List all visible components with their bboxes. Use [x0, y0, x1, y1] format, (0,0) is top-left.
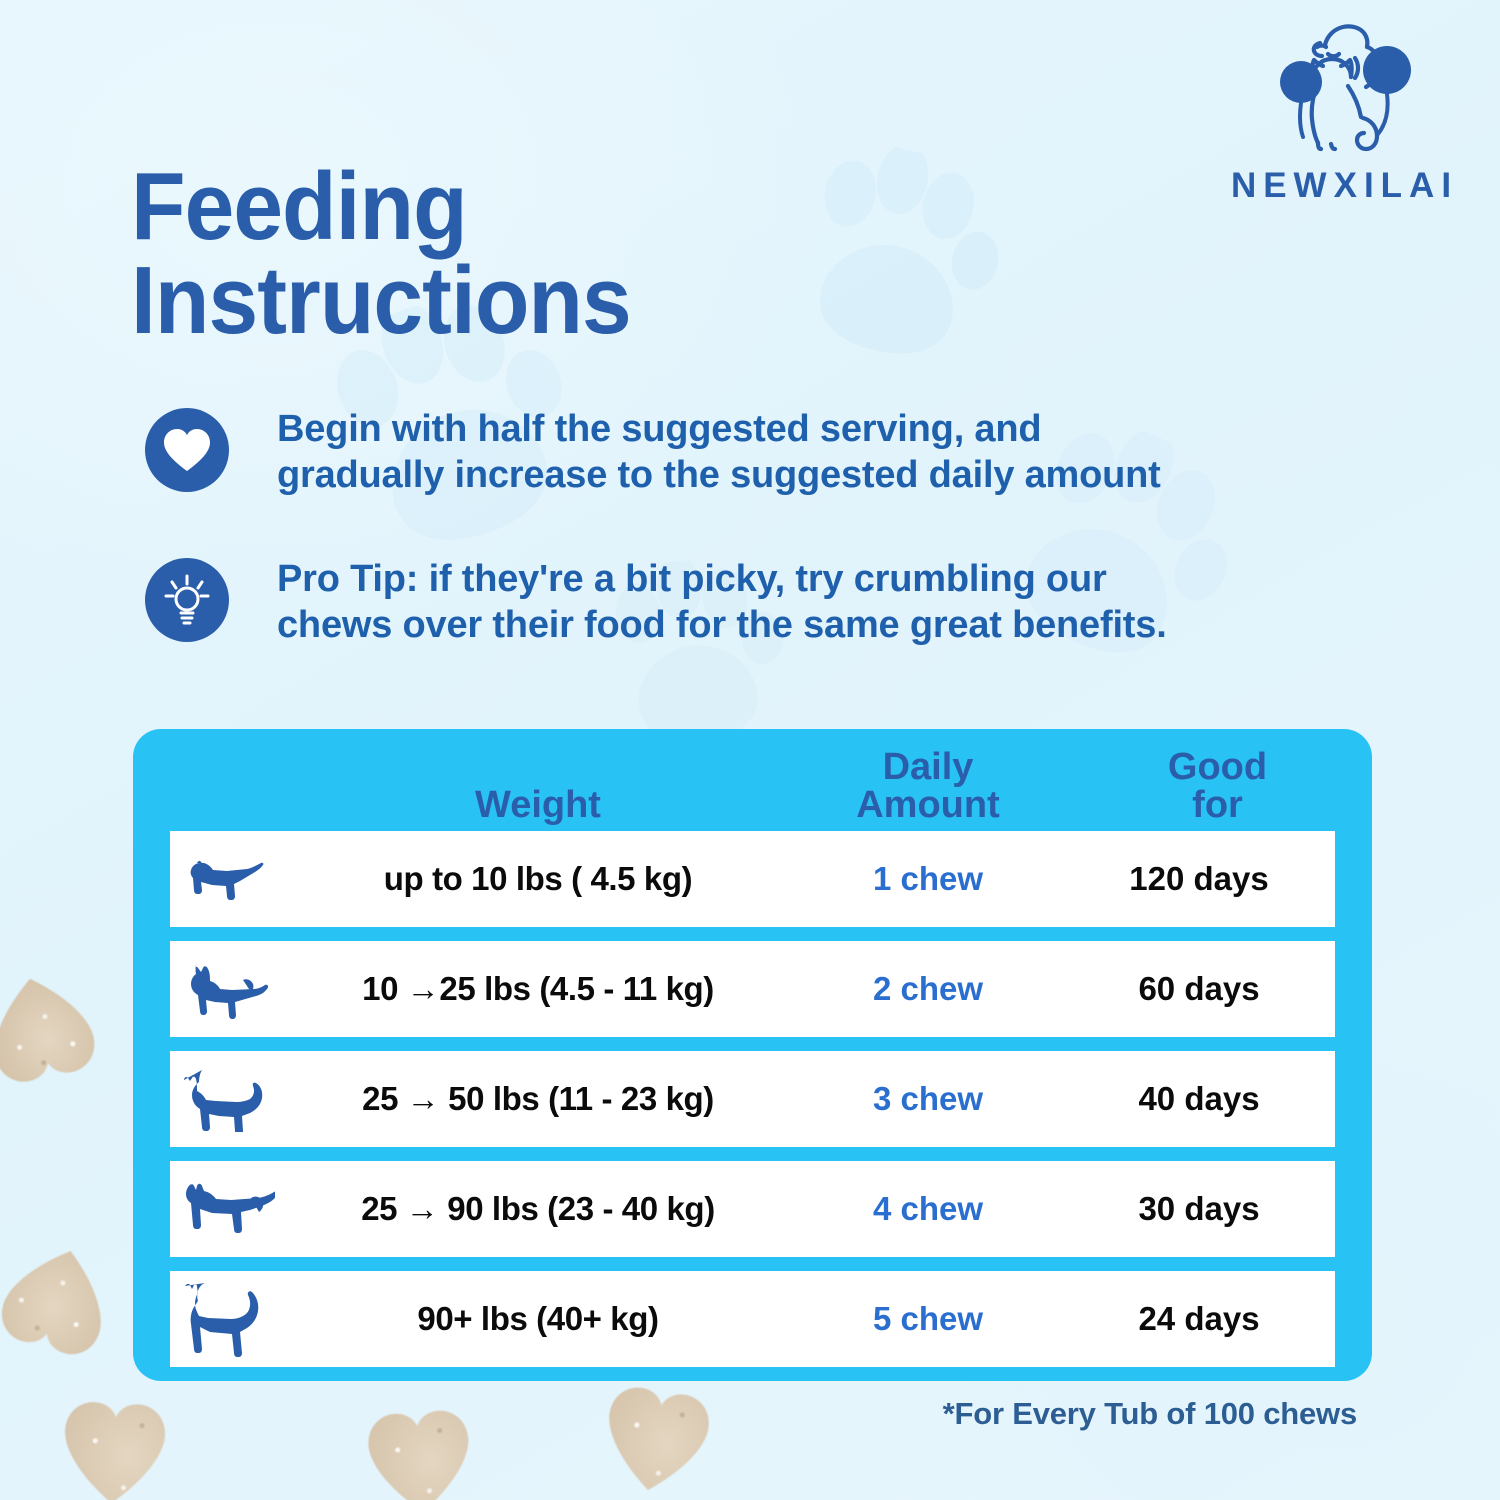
page-title-line-1: Feeding — [131, 160, 838, 254]
note-pro-tip: Pro Tip: if they're a bit picky, try cru… — [145, 556, 1405, 649]
cell-good-for: 24 days — [1063, 1300, 1335, 1338]
lightbulb-icon — [145, 558, 229, 642]
large-dog-icon — [170, 1178, 283, 1240]
table-header-row: Weight Daily Amount Good for — [133, 729, 1372, 831]
table-row: 25 → 90 lbs (23 - 40 kg) 4 chew 30 days — [170, 1161, 1335, 1257]
table-row: 90+ lbs (40+ kg) 5 chew 24 days — [170, 1271, 1335, 1367]
page-title-line-2: Instructions — [131, 254, 838, 348]
cell-weight: 25 → 50 lbs (11 - 23 kg) — [283, 1080, 793, 1118]
note-text: Begin with half the suggested serving, a… — [277, 406, 1161, 499]
cell-weight: 90+ lbs (40+ kg) — [283, 1300, 793, 1338]
cell-good-for: 40 days — [1063, 1080, 1335, 1118]
giant-dog-icon — [170, 1281, 283, 1357]
cell-daily-amount: 1 chew — [793, 860, 1063, 898]
cell-daily-amount: 3 chew — [793, 1080, 1063, 1118]
cell-good-for: 120 days — [1063, 860, 1335, 898]
note-text: Pro Tip: if they're a bit picky, try cru… — [277, 556, 1167, 649]
dog-and-cat-logo-icon — [1216, 14, 1466, 164]
chew-treat-photo — [0, 1189, 130, 1361]
column-header-weight: Weight — [283, 786, 793, 825]
cell-good-for: 30 days — [1063, 1190, 1335, 1228]
cell-weight: 10 →25 lbs (4.5 - 11 kg) — [283, 970, 793, 1008]
cell-daily-amount: 2 chew — [793, 970, 1063, 1008]
feeding-instructions-infographic: Feeding Instructions — [0, 0, 1500, 1500]
cell-daily-amount: 5 chew — [793, 1300, 1063, 1338]
table-row: 25 → 50 lbs (11 - 23 kg) 3 chew 40 days — [170, 1051, 1335, 1147]
cell-weight: up to 10 lbs ( 4.5 kg) — [283, 860, 793, 898]
table-row: up to 10 lbs ( 4.5 kg) 1 chew 120 days — [170, 831, 1335, 927]
chihuahua-icon — [170, 958, 283, 1020]
cell-good-for: 60 days — [1063, 970, 1335, 1008]
note-line-1: Pro Tip: if they're a bit picky, try cru… — [277, 556, 1167, 602]
cell-daily-amount: 4 chew — [793, 1190, 1063, 1228]
heart-icon — [145, 408, 229, 492]
chew-treat-photo — [0, 944, 100, 1091]
column-header-good-for: Good for — [1063, 748, 1372, 826]
logo-wordmark: NEWXILAI — [1216, 166, 1466, 206]
cell-weight: 25 → 90 lbs (23 - 40 kg) — [283, 1190, 793, 1228]
medium-dog-icon — [170, 1066, 283, 1132]
footnote: *For Every Tub of 100 chews — [0, 1396, 1357, 1432]
note-line-1: Begin with half the suggested serving, a… — [277, 406, 1161, 452]
note-begin-with-half: Begin with half the suggested serving, a… — [145, 406, 1405, 499]
feeding-chart-table: Weight Daily Amount Good for up to 10 lb… — [133, 729, 1372, 1381]
column-header-daily-amount: Daily Amount — [793, 748, 1063, 826]
brand-logo: NEWXILAI — [1216, 14, 1466, 206]
page-title: Feeding Instructions — [131, 160, 838, 348]
puppy-icon — [170, 851, 283, 907]
table-row: 10 →25 lbs (4.5 - 11 kg) 2 chew 60 days — [170, 941, 1335, 1037]
note-line-2: gradually increase to the suggested dail… — [277, 452, 1161, 498]
note-line-2: chews over their food for the same great… — [277, 602, 1167, 648]
